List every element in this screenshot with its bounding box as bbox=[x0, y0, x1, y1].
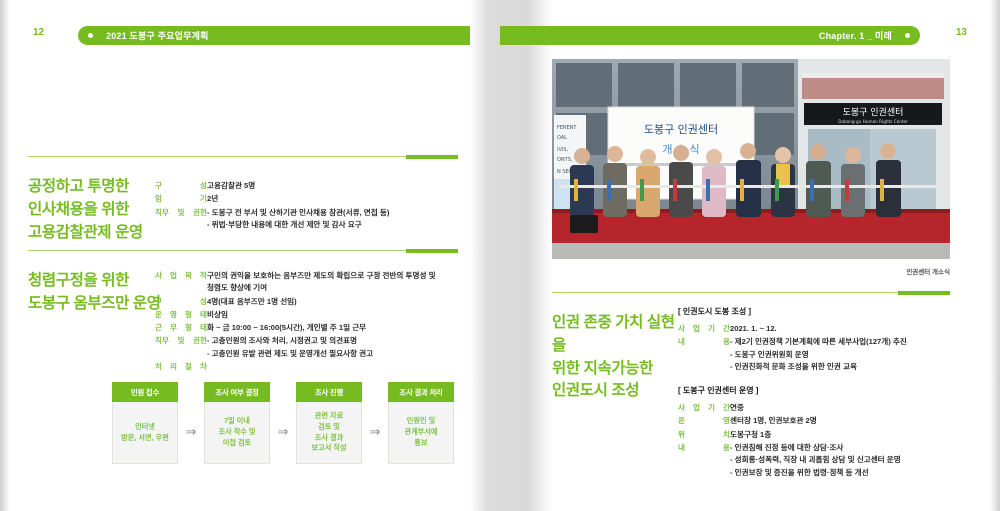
detail-blocks-human-rights: [ 인권도시 도봉 조성 ]사업기간2021. 1. ~ 12.내용- 제2기 … bbox=[678, 306, 978, 480]
flow-step-title: 민원 접수 bbox=[112, 382, 178, 402]
flow-step-body: 관련 자료검토 및조사 결과보고서 작성 bbox=[296, 402, 362, 464]
detail-row: 구성고용감찰관 5명 bbox=[155, 180, 465, 192]
detail-label: 내용 bbox=[678, 336, 730, 348]
detail-label: 처리절차 bbox=[155, 361, 207, 373]
flow-step-body: 7일 이내조사 착수 및이첩 검토 bbox=[204, 402, 270, 464]
detail-label: 운영 bbox=[678, 415, 730, 427]
bullet-dot-icon bbox=[905, 33, 910, 38]
detail-row: 직무및권한- 고충민원의 조사와 처리, 시정권고 및 의견표명- 고충민원 유… bbox=[155, 335, 475, 360]
detail-value: - 인권침해 진정 등에 대한 상담·조사- 성희롱·성폭력, 직장 내 괴롭힘… bbox=[730, 442, 978, 479]
running-header-right: Chapter. 1 _ 미래 bbox=[500, 26, 920, 45]
process-flow-chart: 민원 접수인터넷방문, 서면, 우편⇒조사 여부 결정7일 이내조사 착수 및이… bbox=[112, 382, 454, 464]
detail-value: 도봉구청 1층 bbox=[730, 429, 978, 441]
ceremony-photo: 도봉구 인권센터 Dobong-gu Human Rights Center 도… bbox=[552, 59, 950, 259]
detail-value-line: 화 ~ 금 10:00 ~ 16:00(5시간), 개인별 주 1일 근무 bbox=[207, 322, 475, 334]
detail-row: 구성4명(대표 옴부즈만 1명 선임) bbox=[155, 296, 475, 308]
detail-value: 2021. 1. ~ 12. bbox=[730, 323, 978, 335]
detail-value-line: - 위법·부당한 내용에 대한 개선 제안 및 감사 요구 bbox=[207, 219, 465, 231]
detail-label: 내용 bbox=[678, 442, 730, 454]
detail-value: 연중 bbox=[730, 402, 978, 414]
svg-text:FERENT: FERENT bbox=[557, 125, 577, 131]
detail-block: [ 인권도시 도봉 조성 ]사업기간2021. 1. ~ 12.내용- 제2기 … bbox=[678, 306, 978, 373]
detail-value-line: - 성희롱·성폭력, 직장 내 괴롭힘 상담 및 신고센터 운영 bbox=[730, 454, 978, 466]
svg-text:ONTS,: ONTS, bbox=[557, 157, 573, 163]
detail-label: 운영형태 bbox=[155, 309, 207, 321]
flow-step-body: 민원인 및관계부서에통보 bbox=[388, 402, 454, 464]
detail-row: 근무형태화 ~ 금 10:00 ~ 16:00(5시간), 개인별 주 1일 근… bbox=[155, 322, 475, 334]
detail-label: 사업기간 bbox=[678, 323, 730, 335]
detail-label: 임기 bbox=[155, 193, 207, 205]
detail-list-employment-inspector: 구성고용감찰관 5명임기2년직무및권한- 도봉구 전 부서 및 산하기관 인사채… bbox=[155, 180, 465, 232]
detail-value-line: 도봉구청 1층 bbox=[730, 429, 978, 441]
detail-value-line: 비상임 bbox=[207, 309, 475, 321]
detail-row: 위치도봉구청 1층 bbox=[678, 429, 978, 441]
photo-caption: 인권센터 개소식 bbox=[552, 266, 950, 276]
flow-step-line: 관계부서에 bbox=[404, 427, 437, 438]
flow-step-line: 조사 결과 bbox=[315, 433, 343, 444]
detail-value: 화 ~ 금 10:00 ~ 16:00(5시간), 개인별 주 1일 근무 bbox=[207, 322, 475, 334]
flow-step-line: 보고서 작성 bbox=[311, 443, 346, 454]
detail-row: 내용- 인권침해 진정 등에 대한 상담·조사- 성희롱·성폭력, 직장 내 괴… bbox=[678, 442, 978, 479]
flow-step-body: 인터넷방문, 서면, 우편 bbox=[112, 402, 178, 464]
title-line: 인권 존중 가치 실현을 bbox=[552, 312, 682, 358]
detail-value-line: 구민의 권익을 보호하는 옴부즈만 제도의 확립으로 구정 전반의 투명성 및 bbox=[207, 270, 475, 282]
page-edge-shadow-right bbox=[990, 0, 1000, 511]
flow-step-line: 7일 이내 bbox=[224, 416, 250, 427]
running-header-right-label: Chapter. 1 _ 미래 bbox=[819, 29, 892, 42]
detail-value: 2년 bbox=[207, 193, 465, 205]
flow-step-title: 조사 진행 bbox=[296, 382, 362, 402]
detail-row: 사업기간연중 bbox=[678, 402, 978, 414]
detail-value: - 도봉구 전 부서 및 산하기관 인사채용 참관(서류, 면접 등)- 위법·… bbox=[207, 207, 465, 232]
page-number-right: 13 bbox=[956, 27, 967, 38]
title-line: 위한 지속가능한 bbox=[552, 358, 682, 381]
detail-value-line: - 인권보장 및 증진을 위한 법령·정책 등 개선 bbox=[730, 467, 978, 479]
detail-label: 사업기간 bbox=[678, 402, 730, 414]
detail-value: - 고충민원의 조사와 처리, 시정권고 및 의견표명- 고충민원 유발 관련 … bbox=[207, 335, 475, 360]
section-divider-rule bbox=[28, 154, 458, 159]
flow-arrow-icon: ⇒ bbox=[178, 382, 204, 464]
detail-value-line: - 제2기 인권정책 기본계획에 따른 세부사업(127개) 추진 bbox=[730, 336, 978, 348]
svg-text:IVIS,: IVIS, bbox=[557, 147, 569, 153]
detail-value: 구민의 권익을 보호하는 옴부즈만 제도의 확립으로 구정 전반의 투명성 및청… bbox=[207, 270, 475, 295]
flow-step-line: 관련 자료 bbox=[315, 411, 343, 422]
section-title-human-rights-city: 인권 존중 가치 실현을위한 지속가능한인권도시 조성 bbox=[552, 312, 682, 403]
page-spread: 12 2021 도봉구 주요업무계획 Chapter. 1 _ 미래 13 공정… bbox=[0, 0, 1000, 511]
detail-label: 구성 bbox=[155, 296, 207, 308]
title-line: 인권도시 조성 bbox=[552, 380, 682, 403]
divider-thick-line bbox=[406, 249, 458, 253]
detail-value-line: - 고충민원의 조사와 처리, 시정권고 및 의견표명 bbox=[207, 335, 475, 347]
detail-block-title: [ 도봉구 인권센터 운영 ] bbox=[678, 385, 978, 398]
divider-thin-line bbox=[552, 292, 898, 293]
detail-label: 구성 bbox=[155, 180, 207, 192]
detail-label: 근무형태 bbox=[155, 322, 207, 334]
section-divider-rule bbox=[552, 290, 950, 295]
detail-value: 고용감찰관 5명 bbox=[207, 180, 465, 192]
flow-arrow-icon: ⇒ bbox=[270, 382, 296, 464]
detail-value-line: 4명(대표 옴부즈만 1명 선임) bbox=[207, 296, 475, 308]
detail-value: 비상임 bbox=[207, 309, 475, 321]
svg-text:OAL: OAL bbox=[557, 135, 567, 141]
flow-step-line: 인터넷 bbox=[135, 422, 155, 433]
detail-value-line: - 인권친화적 문화 조성을 위한 인권 교육 bbox=[730, 361, 978, 373]
detail-value-line: 2021. 1. ~ 12. bbox=[730, 323, 978, 335]
detail-list-ombudsman: 사업목적구민의 권익을 보호하는 옴부즈만 제도의 확립으로 구정 전반의 투명… bbox=[155, 270, 475, 374]
detail-value-line: - 인권침해 진정 등에 대한 상담·조사 bbox=[730, 442, 978, 454]
flow-step-title: 조사 결과 처리 bbox=[388, 382, 454, 402]
page-spine-gutter bbox=[470, 0, 552, 511]
detail-row: 운영형태비상임 bbox=[155, 309, 475, 321]
bullet-dot-icon bbox=[88, 33, 93, 38]
flow-step-line: 조사 착수 및 bbox=[218, 427, 255, 438]
flow-step: 조사 여부 결정7일 이내조사 착수 및이첩 검토 bbox=[204, 382, 270, 464]
divider-thick-line bbox=[406, 155, 458, 159]
divider-thick-line bbox=[898, 291, 950, 295]
flow-step-line: 통보 bbox=[414, 438, 427, 449]
flow-step-line: 방문, 서면, 우편 bbox=[121, 433, 169, 444]
flow-step-line: 이첩 검토 bbox=[223, 438, 251, 449]
divider-thin-line bbox=[28, 156, 406, 157]
flow-step: 조사 진행관련 자료검토 및조사 결과보고서 작성 bbox=[296, 382, 362, 464]
detail-value-line: 연중 bbox=[730, 402, 978, 414]
detail-label: 직무및권한 bbox=[155, 335, 207, 347]
detail-row: 임기2년 bbox=[155, 193, 465, 205]
detail-label: 위치 bbox=[678, 429, 730, 441]
detail-label: 직무및권한 bbox=[155, 207, 207, 219]
flow-arrow-icon: ⇒ bbox=[362, 382, 388, 464]
running-header-left: 2021 도봉구 주요업무계획 bbox=[78, 26, 470, 45]
detail-value-line: 청렴도 향상에 기여 bbox=[207, 282, 475, 294]
page-edge-shadow-left bbox=[0, 0, 10, 511]
detail-row: 직무및권한- 도봉구 전 부서 및 산하기관 인사채용 참관(서류, 면접 등)… bbox=[155, 207, 465, 232]
flow-step-line: 검토 및 bbox=[318, 422, 340, 433]
detail-value: 센터장 1명, 인권보호관 2명 bbox=[730, 415, 978, 427]
flow-step: 민원 접수인터넷방문, 서면, 우편 bbox=[112, 382, 178, 464]
section-divider-rule bbox=[28, 248, 458, 253]
detail-row: 내용- 제2기 인권정책 기본계획에 따른 세부사업(127개) 추진- 도봉구… bbox=[678, 336, 978, 373]
flow-step-line: 민원인 및 bbox=[407, 416, 435, 427]
detail-row: 처리절차 bbox=[155, 361, 475, 373]
detail-row: 사업목적구민의 권익을 보호하는 옴부즈만 제도의 확립으로 구정 전반의 투명… bbox=[155, 270, 475, 295]
detail-value-line: 고용감찰관 5명 bbox=[207, 180, 465, 192]
detail-row: 운영센터장 1명, 인권보호관 2명 bbox=[678, 415, 978, 427]
detail-label: 사업목적 bbox=[155, 270, 207, 282]
detail-value-line: - 도봉구 전 부서 및 산하기관 인사채용 참관(서류, 면접 등) bbox=[207, 207, 465, 219]
detail-value-line: 센터장 1명, 인권보호관 2명 bbox=[730, 415, 978, 427]
divider-thin-line bbox=[28, 250, 406, 251]
detail-value-line: - 고충민원 유발 관련 제도 및 운영개선 필요사항 권고 bbox=[207, 348, 475, 360]
page-number-left: 12 bbox=[33, 27, 44, 38]
flow-step: 조사 결과 처리민원인 및관계부서에통보 bbox=[388, 382, 454, 464]
detail-value: - 제2기 인권정책 기본계획에 따른 세부사업(127개) 추진- 도봉구 인… bbox=[730, 336, 978, 373]
detail-value-line: 2년 bbox=[207, 193, 465, 205]
svg-text:도봉구 인권센터: 도봉구 인권센터 bbox=[843, 106, 904, 118]
detail-block-title: [ 인권도시 도봉 조성 ] bbox=[678, 306, 978, 319]
running-header-left-label: 2021 도봉구 주요업무계획 bbox=[106, 29, 209, 42]
detail-value-line: - 도봉구 인권위원회 운영 bbox=[730, 349, 978, 361]
detail-row: 사업기간2021. 1. ~ 12. bbox=[678, 323, 978, 335]
svg-text:도봉구 인권센터: 도봉구 인권센터 bbox=[644, 123, 718, 136]
detail-block: [ 도봉구 인권센터 운영 ]사업기간연중운영센터장 1명, 인권보호관 2명위… bbox=[678, 385, 978, 479]
svg-text:Dobong-gu Human Rights Center: Dobong-gu Human Rights Center bbox=[838, 119, 908, 124]
flow-step-title: 조사 여부 결정 bbox=[204, 382, 270, 402]
detail-value: 4명(대표 옴부즈만 1명 선임) bbox=[207, 296, 475, 308]
